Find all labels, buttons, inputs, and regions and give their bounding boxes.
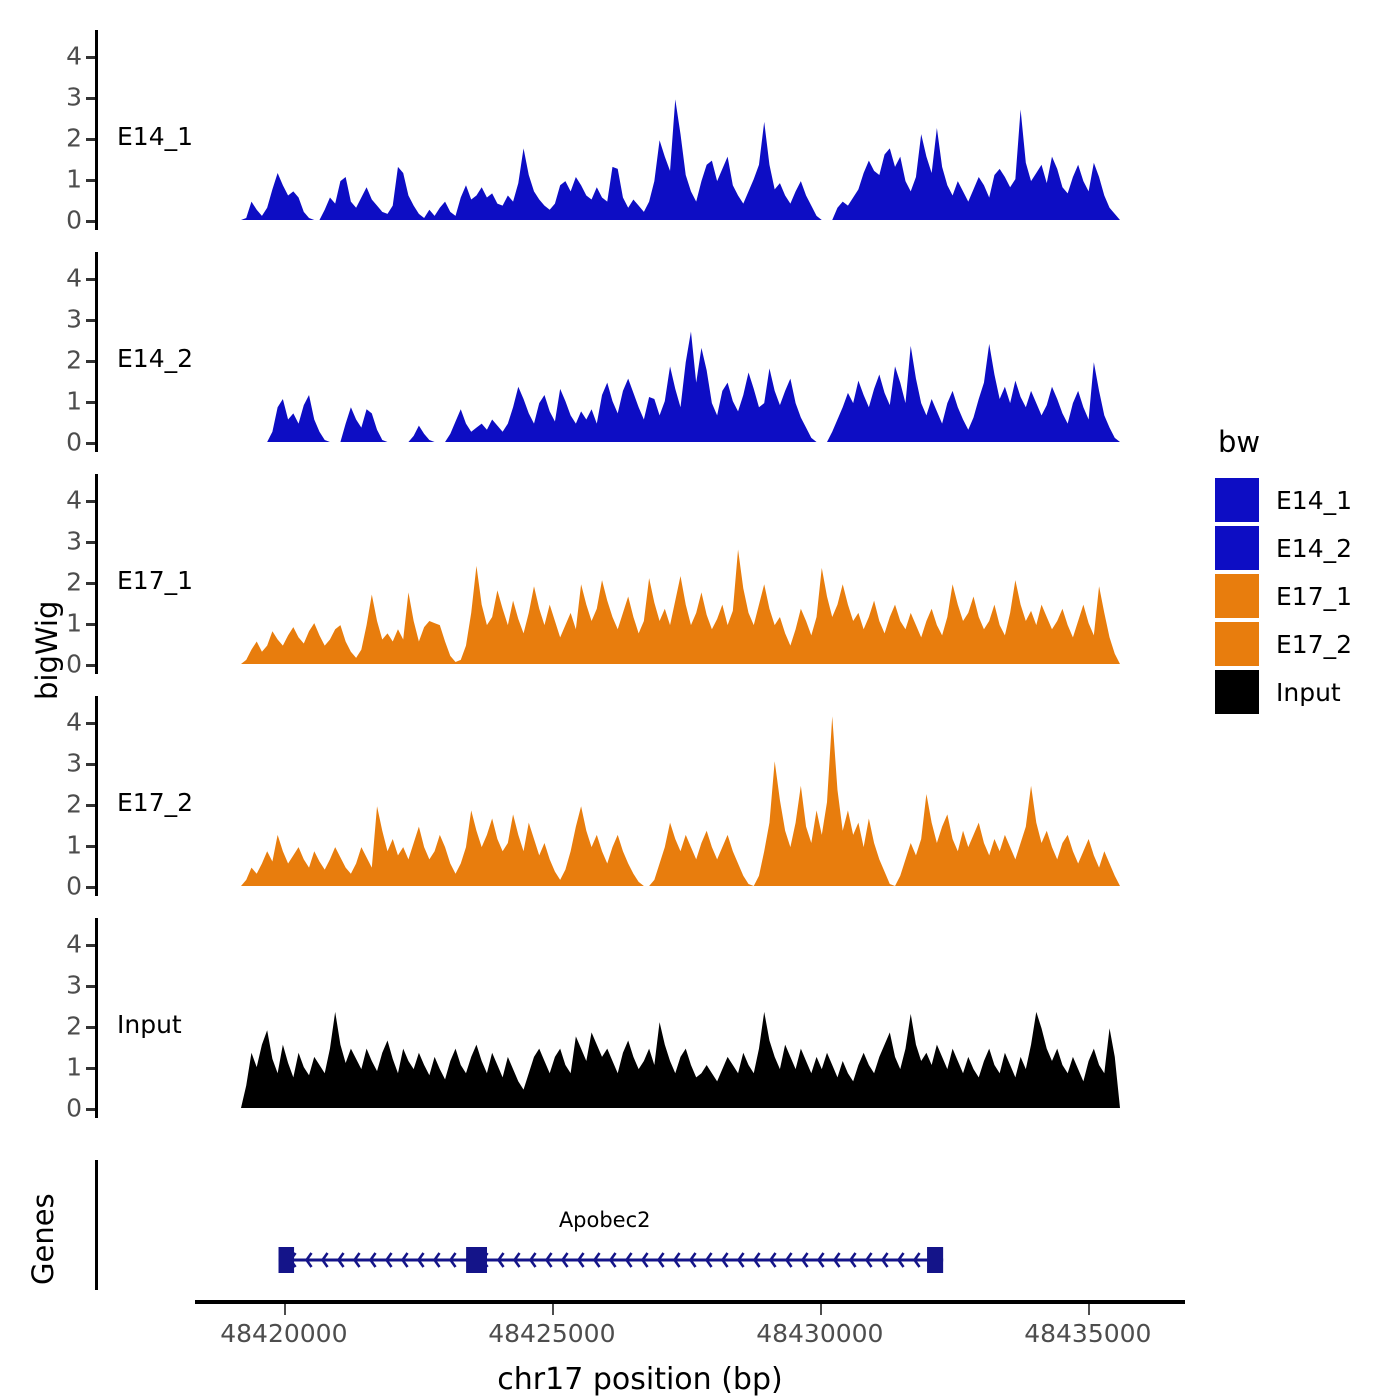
legend-color-swatch [1215, 622, 1259, 666]
genome-browser-figure: bigWig Genes 43210E14_143210E14_243210E1… [0, 0, 1400, 1400]
y-tick [86, 97, 95, 100]
y-tick [86, 804, 95, 807]
track-panel-e17_1: 43210E17_1 [95, 474, 1185, 674]
signal-area [267, 395, 330, 442]
signal-plot-area-e17_2[interactable] [95, 696, 1185, 896]
y-tick [86, 1026, 95, 1029]
legend-label: E17_1 [1276, 582, 1352, 611]
y-tick-label: 3 [66, 971, 82, 1000]
signal-area [832, 110, 1120, 220]
signal-plot-area-input[interactable] [95, 918, 1185, 1118]
y-tick-label: 3 [66, 83, 82, 112]
y-tick-label: 0 [66, 872, 82, 901]
y-tick [86, 845, 95, 848]
legend-label: E17_2 [1276, 630, 1352, 659]
x-tick [1088, 1304, 1091, 1315]
y-axis-title-bigwig: bigWig [30, 601, 64, 700]
track-panel-input: 43210Input [95, 918, 1185, 1118]
y-tick-label: 1 [66, 165, 82, 194]
signal-plot-area-e17_1[interactable] [95, 474, 1185, 674]
x-tick [820, 1304, 823, 1315]
legend-label: E14_1 [1276, 486, 1352, 515]
legend-color-swatch [1215, 526, 1259, 570]
y-tick-label: 0 [66, 650, 82, 679]
y-tick-label: 2 [66, 346, 82, 375]
y-tick [86, 138, 95, 141]
y-tick [86, 360, 95, 363]
signal-area [319, 99, 821, 220]
signal-area [241, 173, 314, 220]
y-tick [86, 500, 95, 503]
y-tick-label: 3 [66, 749, 82, 778]
y-tick [86, 442, 95, 445]
y-tick [86, 541, 95, 544]
x-axis: 48420000484250004843000048435000 chr17 p… [95, 1300, 1185, 1400]
x-tick-label: 48420000 [220, 1319, 347, 1348]
y-tick-label: 4 [66, 264, 82, 293]
signal-area [241, 1012, 1120, 1108]
genes-panel: Apobec2 [95, 1160, 1185, 1290]
signal-area [340, 407, 387, 442]
legend-label: Input [1276, 678, 1341, 707]
track-panel-e14_2: 43210E14_2 [95, 252, 1185, 452]
legend: bw E14_1E14_2E17_1E17_2Input [1215, 425, 1390, 717]
y-tick [86, 401, 95, 404]
y-tick-label: 0 [66, 206, 82, 235]
y-tick [86, 56, 95, 59]
y-tick-label: 1 [66, 1053, 82, 1082]
y-tick [86, 179, 95, 182]
x-tick [552, 1304, 555, 1315]
gene-exon-box[interactable] [279, 1247, 295, 1273]
gene-exon-box[interactable] [466, 1247, 487, 1273]
y-tick [86, 944, 95, 947]
legend-label: E14_2 [1276, 534, 1352, 563]
legend-item-e14_1[interactable]: E14_1 [1215, 477, 1390, 523]
legend-item-e17_1[interactable]: E17_1 [1215, 573, 1390, 619]
x-tick [284, 1304, 287, 1315]
track-panel-e14_1: 43210E14_1 [95, 30, 1185, 230]
signal-area [649, 823, 754, 886]
y-axis-title-genes: Genes [26, 1193, 60, 1285]
y-tick-label: 2 [66, 790, 82, 819]
signal-area [827, 344, 1120, 442]
y-tick [86, 763, 95, 766]
y-tick [86, 278, 95, 281]
signal-area [408, 426, 434, 442]
y-tick [86, 722, 95, 725]
y-tick [86, 664, 95, 667]
y-tick-label: 3 [66, 527, 82, 556]
signal-plot-area-e14_1[interactable] [95, 30, 1185, 230]
y-tick-label: 0 [66, 428, 82, 457]
y-tick-label: 1 [66, 387, 82, 416]
legend-title: bw [1218, 425, 1390, 459]
x-tick-label: 48425000 [488, 1319, 615, 1348]
legend-color-swatch [1215, 670, 1259, 714]
legend-item-e17_2[interactable]: E17_2 [1215, 621, 1390, 667]
y-tick [86, 1108, 95, 1111]
y-tick-label: 1 [66, 609, 82, 638]
y-tick [86, 220, 95, 223]
y-tick [86, 623, 95, 626]
y-tick-label: 4 [66, 42, 82, 71]
legend-items: E14_1E14_2E17_1E17_2Input [1215, 477, 1390, 715]
signal-area [241, 549, 1120, 664]
y-tick [86, 319, 95, 322]
x-axis-line [195, 1300, 1185, 1304]
x-axis-title: chr17 position (bp) [95, 1362, 1185, 1397]
signal-plot-area-e14_2[interactable] [95, 252, 1185, 452]
y-tick [86, 886, 95, 889]
signal-area [754, 716, 895, 886]
y-tick-label: 2 [66, 124, 82, 153]
track-panel-e17_2: 43210E17_2 [95, 696, 1185, 896]
x-tick-label: 48435000 [1024, 1319, 1151, 1348]
gene-name-label: Apobec2 [559, 1208, 651, 1232]
y-tick-label: 4 [66, 930, 82, 959]
signal-area [445, 332, 816, 442]
legend-color-swatch [1215, 478, 1259, 522]
y-tick [86, 985, 95, 988]
legend-color-swatch [1215, 574, 1259, 618]
signal-area [895, 786, 1120, 886]
legend-item-input[interactable]: Input [1215, 669, 1390, 715]
y-tick-label: 2 [66, 1012, 82, 1041]
signal-area [241, 806, 644, 886]
y-tick-label: 2 [66, 568, 82, 597]
y-tick [86, 582, 95, 585]
x-tick-label: 48430000 [756, 1319, 883, 1348]
y-tick-label: 3 [66, 305, 82, 334]
y-tick-label: 1 [66, 831, 82, 860]
y-tick-label: 4 [66, 708, 82, 737]
gene-exon-box[interactable] [927, 1247, 943, 1273]
y-tick-label: 0 [66, 1094, 82, 1123]
y-tick-label: 4 [66, 486, 82, 515]
legend-item-e14_2[interactable]: E14_2 [1215, 525, 1390, 571]
y-tick [86, 1067, 95, 1070]
